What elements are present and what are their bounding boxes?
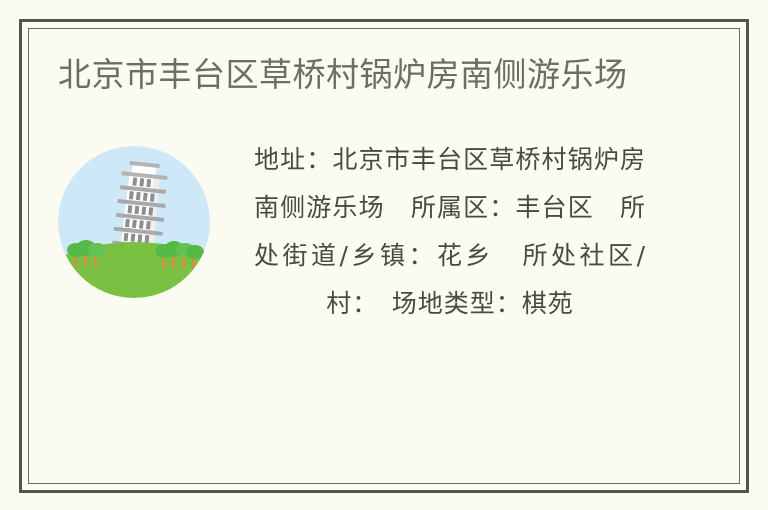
page-title: 北京市丰台区草桥村锅炉房南侧游乐场 — [58, 50, 658, 100]
venue-details-text: 地址：北京市丰台区草桥村锅炉房南侧游乐场 所属区：丰台区 所处街道/乡镇：花乡 … — [254, 130, 646, 328]
decorative-outer-frame: 北京市丰台区草桥村锅炉房南侧游乐场 — [19, 19, 749, 493]
leaning-tower-of-pisa-icon — [58, 146, 210, 298]
card-content: 北京市丰台区草桥村锅炉房南侧游乐场 — [22, 22, 746, 490]
info-card-page: 北京市丰台区草桥村锅炉房南侧游乐场 — [0, 0, 768, 510]
venue-info-block: 地址：北京市丰台区草桥村锅炉房南侧游乐场 所属区：丰台区 所处街道/乡镇：花乡 … — [58, 130, 714, 328]
